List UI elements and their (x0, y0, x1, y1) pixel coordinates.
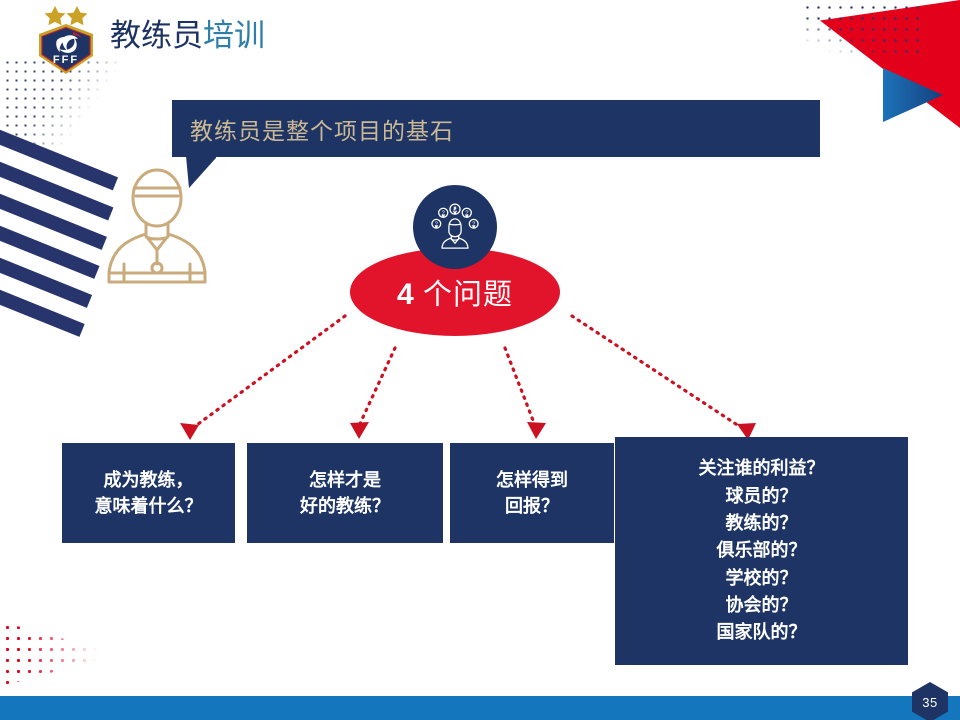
svg-text:?: ? (465, 210, 468, 216)
svg-text:?: ? (472, 221, 475, 227)
question-box-4-line-5: 学校的？ (699, 565, 825, 592)
question-box-1-text: 成为教练， 意味着什么？ (95, 467, 203, 519)
svg-text:?: ? (453, 207, 456, 213)
question-box-3-text: 怎样得到 回报？ (496, 467, 568, 519)
question-box-3-line-1: 怎样得到 (496, 467, 568, 493)
central-node-number: 4 (397, 278, 415, 311)
svg-text:?: ? (435, 221, 438, 227)
question-box-4-line-3: 教练的？ (699, 510, 825, 537)
question-box-1[interactable]: 成为教练， 意味着什么？ (62, 443, 235, 543)
question-box-4-line-1: 关注谁的利益？ (699, 455, 825, 482)
svg-text:?: ? (442, 210, 445, 216)
question-box-2-line-1: 怎样才是 (300, 467, 390, 493)
question-box-1-line-1: 成为教练， (95, 467, 203, 493)
person-questions-icon: ??? ?? (429, 201, 481, 253)
question-box-2[interactable]: 怎样才是 好的教练？ (247, 443, 443, 543)
question-box-1-line-2: 意味着什么？ (95, 493, 203, 519)
question-box-4-line-6: 协会的？ (699, 592, 825, 619)
question-box-4-text: 关注谁的利益？ 球员的？ 教练的？ 俱乐部的？ 学校的？ 协会的？ 国家队的？ (699, 455, 825, 647)
central-node-suffix: 个问题 (415, 279, 513, 311)
question-box-3[interactable]: 怎样得到 回报？ (450, 443, 614, 543)
person-questions-icon-badge: ??? ?? (413, 185, 497, 269)
question-box-4-line-2: 球员的？ (699, 483, 825, 510)
slide-canvas: 35 FFF 教练员培训 教练员是整个项目的基石 (0, 0, 960, 720)
question-box-2-text: 怎样才是 好的教练？ (300, 467, 390, 519)
question-box-4[interactable]: 关注谁的利益？ 球员的？ 教练的？ 俱乐部的？ 学校的？ 协会的？ 国家队的？ (615, 437, 908, 665)
question-box-2-line-2: 好的教练？ (300, 493, 390, 519)
question-box-3-line-2: 回报？ (496, 493, 568, 519)
question-box-4-line-7: 国家队的？ (699, 619, 825, 646)
central-node-label: 4 个问题 (397, 271, 513, 313)
question-box-4-line-4: 俱乐部的？ (699, 537, 825, 564)
